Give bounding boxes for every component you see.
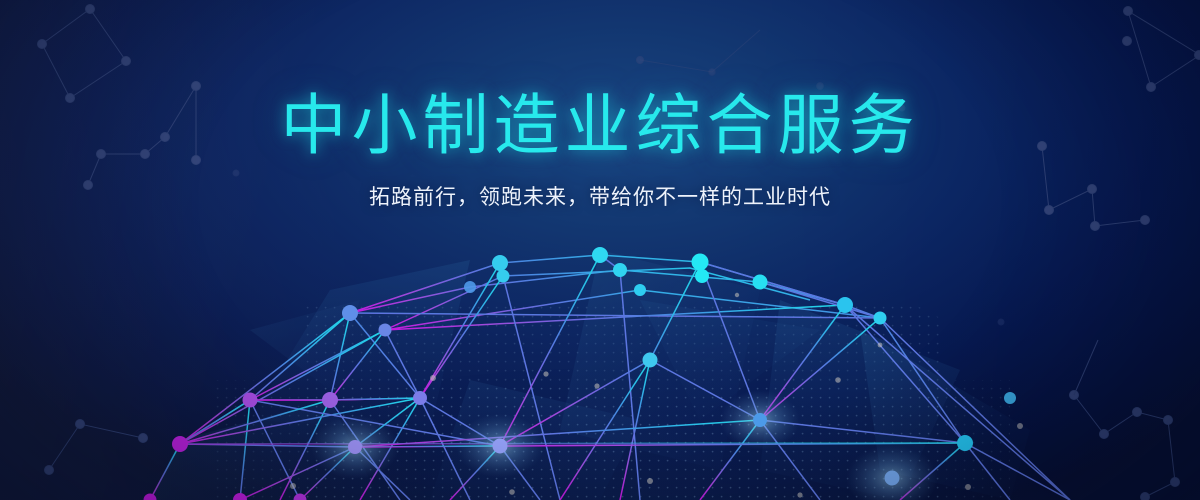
hero-text-block: 中小制造业综合服务 拓路前行，领跑未来，带给你不一样的工业时代 bbox=[0, 92, 1200, 210]
hero-banner: 中小制造业综合服务 拓路前行，领跑未来，带给你不一样的工业时代 bbox=[0, 0, 1200, 500]
background-vignette bbox=[0, 0, 1200, 500]
page-title: 中小制造业综合服务 bbox=[0, 92, 1200, 158]
page-subtitle: 拓路前行，领跑未来，带给你不一样的工业时代 bbox=[0, 185, 1200, 210]
